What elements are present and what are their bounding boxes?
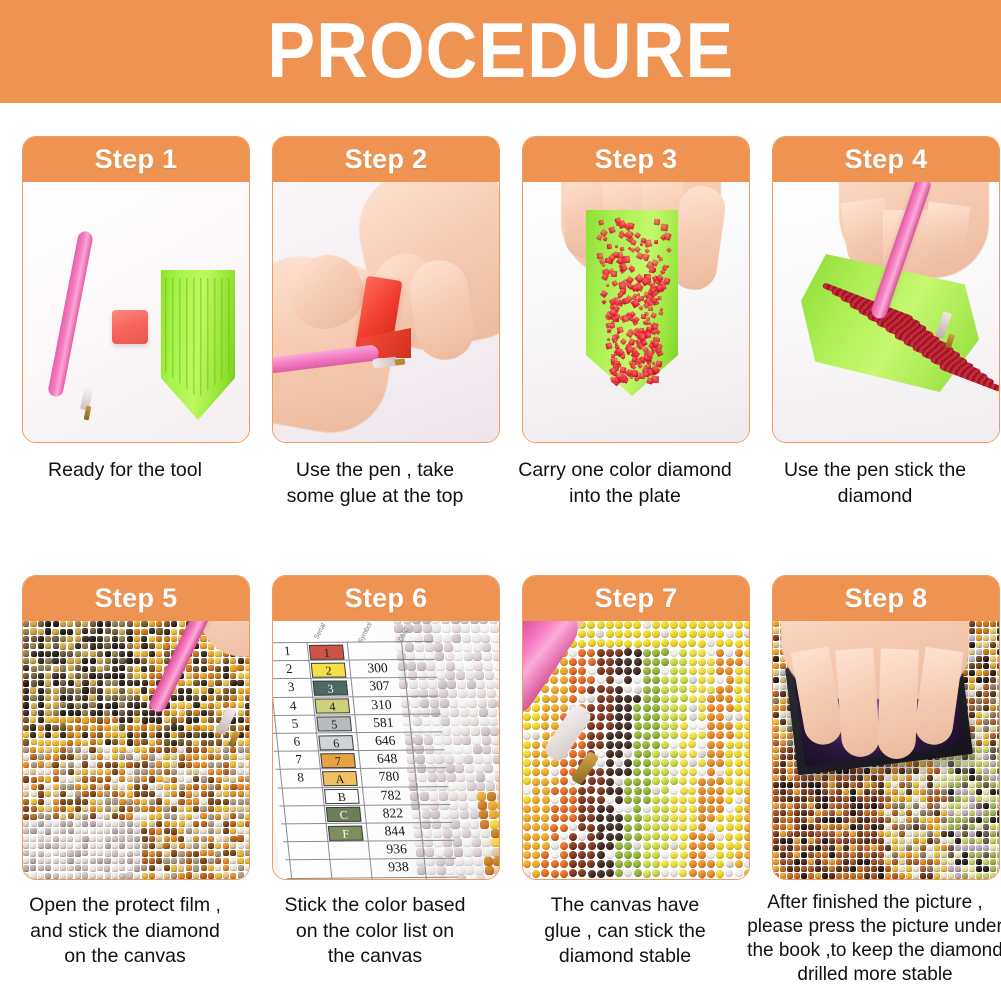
step-card-1[interactable]: Step 1 [22, 136, 250, 443]
chart-row: 77648 [274, 749, 447, 769]
chart-dmc-cell: 822 [368, 805, 418, 821]
chart-symbol-cell: 5 [316, 717, 352, 732]
step-label-8: Step 8 [845, 583, 928, 614]
chart-serial-cell: 4 [274, 697, 312, 713]
chart-row: 938 [285, 858, 458, 878]
step-header-8: Step 8 [773, 576, 999, 621]
step-header-1: Step 1 [23, 137, 249, 182]
chart-row: 8A780 [276, 768, 449, 788]
step-cell-8: Step 8 After finished the picture , plea… [750, 543, 1000, 1001]
chart-dmc-cell: 300 [353, 660, 403, 676]
chart-row: 66646 [273, 731, 444, 751]
step-card-8[interactable]: Step 8 [772, 575, 1000, 880]
chart-dmc-cell: 646 [360, 733, 410, 749]
chart-row: 33307 [273, 677, 439, 697]
step-label-2: Step 2 [345, 144, 428, 175]
chart-row: F844 [281, 822, 454, 842]
step-cell-6: Step 6 SerialSymbolDMC112230033307443105… [250, 543, 500, 1001]
chart-dmc-cell: 307 [355, 678, 405, 694]
step-header-6: Step 6 [273, 576, 499, 621]
chart-symbol-cell [332, 861, 368, 876]
chart-symbol-cell: 4 [314, 698, 350, 713]
sticking-diamond-on-canvas-photo [23, 621, 249, 879]
step-cell-2: Step 2 Use the pen , take some glue at [250, 103, 500, 543]
step-caption-3: Carry one color diamond into the plate [500, 458, 750, 509]
tools-pen-glue-tray-photo [23, 182, 249, 442]
step-cell-5: Step 5 Open the protect film , and stick… [0, 543, 250, 1001]
chart-serial-cell: 6 [278, 734, 316, 750]
chart-dmc-cell: 310 [356, 696, 406, 712]
step-header-5: Step 5 [23, 576, 249, 621]
step-caption-7: The canvas have glue , can stick the dia… [500, 893, 750, 970]
step-header-2: Step 2 [273, 137, 499, 182]
chart-dmc-cell: 938 [374, 859, 424, 875]
step-header-4: Step 4 [773, 137, 999, 182]
chart-serial-cell: 3 [273, 679, 310, 695]
step-caption-2: Use the pen , take some glue at the top [250, 458, 500, 509]
glue-square-illustration [112, 310, 148, 344]
step-caption-4: Use the pen stick the diamond [750, 458, 1000, 509]
steps-row-bottom: Step 5 Open the protect film , and stick… [0, 543, 1001, 1001]
red-diamonds-illustration [593, 218, 671, 384]
steps-row-top: Step 1 Ready for the tool Step 2 [0, 103, 1001, 543]
step-card-5[interactable]: Step 5 [22, 575, 250, 880]
chart-dmc-cell: 936 [372, 841, 422, 857]
step-label-3: Step 3 [595, 144, 678, 175]
page-title: PROCEDURE [267, 11, 734, 93]
step-card-6[interactable]: Step 6 SerialSymbolDMC112230033307443105… [272, 575, 500, 880]
pen-picking-glue-photo [273, 182, 499, 442]
chart-dmc-cell: 780 [364, 769, 414, 785]
step-card-3[interactable]: Step 3 [522, 136, 750, 443]
step-caption-1: Ready for the tool [0, 458, 250, 484]
chart-row: 44310 [273, 695, 441, 715]
step-cell-1: Step 1 Ready for the tool [0, 103, 250, 543]
chart-dmc-cell: 844 [370, 823, 420, 839]
chart-symbol-cell: 6 [318, 735, 354, 750]
step-cell-4: Step 4 Use the pen stick the diamond [750, 103, 1000, 543]
step-card-4[interactable]: Step 4 [772, 136, 1000, 443]
pressing-finished-picture-photo [773, 621, 999, 879]
step-cell-7: Step 7 The canvas have glue , can stick … [500, 543, 750, 1001]
chart-serial-cell: 8 [282, 770, 320, 786]
step-label-5: Step 5 [95, 583, 178, 614]
chart-row: 22300 [273, 659, 437, 679]
color-code-chart-photo: SerialSymbolDMC1122300333074431055581666… [273, 621, 499, 879]
page-header-banner: PROCEDURE [0, 0, 1001, 103]
chart-dmc-cell: 648 [362, 751, 412, 767]
chart-serial-cell: 7 [280, 752, 318, 768]
chart-dmc-cell: 782 [366, 787, 416, 803]
chart-dmc-cell: 581 [358, 715, 408, 731]
chart-symbol-cell [330, 843, 366, 858]
step-card-2[interactable]: Step 2 [272, 136, 500, 443]
chart-serial-cell: 1 [273, 643, 306, 659]
steps-grid: Step 1 Ready for the tool Step 2 [0, 103, 1001, 1001]
step-label-1: Step 1 [95, 144, 178, 175]
canvas-mosaic-illustration [23, 621, 249, 879]
step-header-3: Step 3 [523, 137, 749, 182]
pouring-diamonds-into-tray-photo [523, 182, 749, 442]
step-caption-6: Stick the color based on the color list … [250, 893, 500, 970]
chart-row: 11 [273, 641, 435, 661]
chart-symbol-cell: F [328, 825, 364, 840]
chart-symbol-cell: A [322, 771, 358, 786]
pen-on-round-diamonds-photo [523, 621, 749, 879]
chart-symbol-cell: 3 [313, 680, 349, 695]
chart-row: 936 [283, 840, 456, 860]
chart-symbol-cell: 1 [309, 644, 345, 659]
step-card-7[interactable]: Step 7 [522, 575, 750, 880]
chart-row: B782 [277, 786, 450, 806]
step-label-4: Step 4 [845, 144, 928, 175]
chart-symbol-cell: B [324, 789, 360, 804]
color-code-table: SerialSymbolDMC1122300333074431055581666… [273, 625, 459, 879]
chart-serial-cell: 5 [276, 715, 314, 731]
chart-row: C822 [279, 804, 452, 824]
step-label-6: Step 6 [345, 583, 428, 614]
chart-row: 972 [287, 876, 460, 879]
step-caption-5: Open the protect film , and stick the di… [0, 893, 250, 970]
chart-symbol-cell: 2 [311, 662, 347, 677]
step-label-7: Step 7 [595, 583, 678, 614]
chart-symbol-cell: C [326, 807, 362, 822]
chart-symbol-cell: 7 [320, 753, 356, 768]
chart-dmc-cell: 972 [376, 877, 426, 879]
step-caption-8: After finished the picture , please pres… [736, 891, 1001, 987]
step-header-7: Step 7 [523, 576, 749, 621]
step-cell-3: Step 3 Carry one color diamond into the … [500, 103, 750, 543]
chart-serial-cell: 2 [273, 661, 308, 677]
pen-picking-diamond-photo [773, 182, 999, 442]
chart-row: 55581 [273, 713, 443, 733]
